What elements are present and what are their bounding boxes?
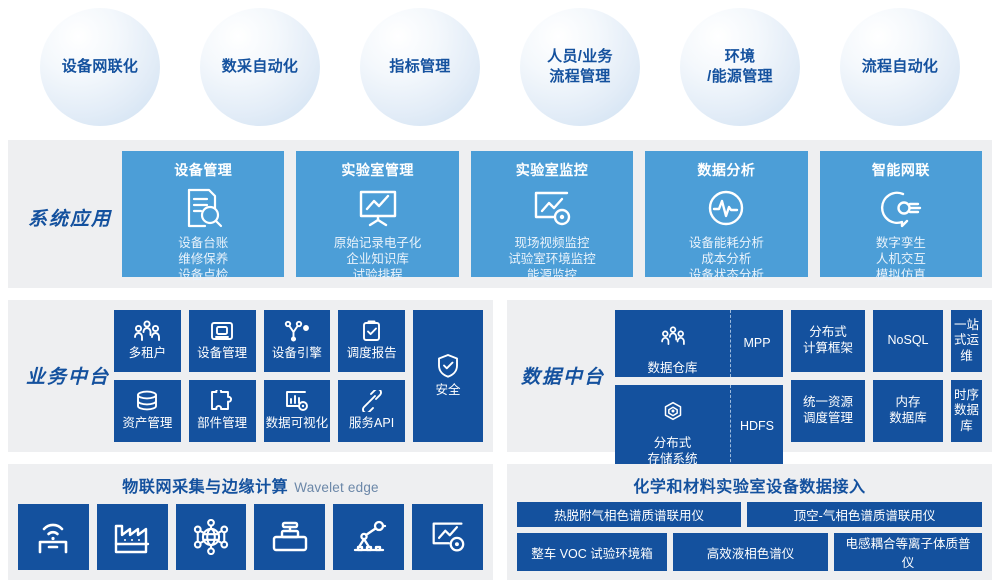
app-card-title: 数据分析 — [697, 160, 755, 180]
tile-asset-management[interactable]: 资产管理 — [114, 380, 181, 442]
tile-label: 分布式 计算框架 — [803, 325, 853, 356]
tile-nosql[interactable]: NoSQL — [873, 310, 943, 372]
app-card-title: 实验室监控 — [516, 160, 589, 180]
app-card-title: 设备管理 — [174, 160, 232, 180]
tile-column: 设备引擎 数据可视化 — [264, 310, 331, 442]
tile-label: 统一资源 调度管理 — [803, 395, 853, 426]
document-search-icon — [183, 187, 223, 229]
iot-edge-section: 物联网采集与边缘计算Wavelet edge — [8, 464, 493, 580]
tile-label: 多租户 — [129, 346, 167, 362]
iot-edge-title: 物联网采集与边缘计算 — [122, 479, 288, 496]
tile-distributed-computing[interactable]: 分布式 计算框架 — [791, 310, 865, 372]
tile-label: 服务API — [349, 416, 394, 432]
lab-chip-voc-chamber[interactable]: 整车 VOC 试验环境箱 — [517, 533, 667, 571]
lab-chip-label: 电感耦合等离子体质普仪 — [840, 533, 976, 571]
storage-cube-icon — [662, 385, 684, 436]
app-card-title: 实验室管理 — [341, 160, 414, 180]
app-card-device-management[interactable]: 设备管理 设备台账 维修保养 设备点检 — [122, 151, 284, 277]
database-asset-icon — [134, 390, 160, 412]
data-platform-title: 数据中台 — [521, 362, 605, 389]
tile-distributed-storage[interactable]: 分布式 存储系统 — [615, 385, 731, 468]
lab-chip-icpms[interactable]: 电感耦合等离子体质普仪 — [834, 533, 982, 571]
iot-icon-row — [18, 504, 483, 570]
iot-tile-monitor[interactable] — [412, 504, 483, 570]
app-card-smart-connected[interactable]: 智能网联 数字孪生 人机交互 模拟仿真 — [820, 151, 982, 277]
capability-label: 指标管理 — [389, 57, 450, 77]
tile-column: 一站式运维 时序数据库 — [951, 310, 982, 442]
tile-multi-tenant[interactable]: 多租户 — [114, 310, 181, 372]
industrial-camera-icon — [271, 521, 309, 553]
lab-instrument-row: 整车 VOC 试验环境箱 高效液相色谱仪 电感耦合等离子体质普仪 — [517, 533, 982, 571]
tile-label: 设备引擎 — [272, 346, 322, 362]
tile-label: 分布式 存储系统 — [647, 436, 697, 467]
factory-icon — [113, 520, 151, 554]
iot-edge-subtitle: Wavelet edge — [294, 480, 378, 495]
monitor-chart-icon — [531, 187, 573, 229]
node-engine-icon — [284, 320, 310, 342]
pulse-circle-icon — [705, 187, 747, 229]
tile-security[interactable]: 安全 — [413, 310, 483, 442]
capability-label: 数采自动化 — [222, 57, 299, 77]
tile-label: MPP — [743, 336, 770, 350]
tile-service-api[interactable]: 服务API — [338, 380, 405, 442]
presentation-chart-icon — [357, 187, 399, 229]
api-plug-icon — [359, 390, 385, 412]
lab-chip-headspace-gcms[interactable]: 顶空-气相色谱质谱联用仪 — [747, 502, 982, 527]
system-application-cards: 设备管理 设备台账 维修保养 设备点检 实验室管理 — [122, 151, 982, 277]
tile-data-visualization[interactable]: 数据可视化 — [264, 380, 331, 442]
tile-label: 时序数据库 — [953, 388, 980, 435]
tile-label: 安全 — [435, 383, 460, 399]
tile-label: HDFS — [740, 419, 774, 433]
tile-device-management[interactable]: 设备管理 — [189, 310, 256, 372]
lab-chip-label: 热脱附气相色谱质谱联用仪 — [554, 505, 704, 524]
tile-schedule-report[interactable]: 调度报告 — [338, 310, 405, 372]
lab-data-access-header: 化学和材料实验室设备数据接入 — [507, 464, 992, 497]
tile-label: 资产管理 — [122, 416, 172, 432]
tile-one-stop-ops[interactable]: 一站式运维 — [951, 310, 982, 372]
capability-label: 流程自动化 — [862, 57, 939, 77]
multi-tenant-icon — [134, 320, 160, 342]
device-box-icon — [209, 320, 235, 342]
data-platform-section: 数据中台 数据仓库 MPP — [507, 300, 992, 452]
app-card-desc: 现场视频监控 试验室环境监控 能源监控 — [508, 235, 596, 283]
app-card-title: 智能网联 — [872, 160, 930, 180]
capability-bubble[interactable]: 环境 /能源管理 — [680, 8, 800, 126]
puzzle-icon — [209, 390, 235, 412]
tile-label: 调度报告 — [347, 346, 397, 362]
capability-bubble[interactable]: 数采自动化 — [200, 8, 320, 126]
monitor-chart-icon — [429, 520, 467, 554]
robot-arm-icon — [351, 520, 387, 554]
tile-label: 部件管理 — [197, 416, 247, 432]
iot-edge-header: 物联网采集与边缘计算Wavelet edge — [8, 464, 493, 497]
tile-in-memory-database[interactable]: 内存 数据库 — [873, 380, 943, 442]
tile-column: 多租户 资产管理 — [114, 310, 181, 442]
lab-instrument-rows: 热脱附气相色谱质谱联用仪 顶空-气相色谱质谱联用仪 整车 VOC 试验环境箱 高… — [517, 502, 982, 571]
capability-bubble[interactable]: 人员/业务 流程管理 — [520, 8, 640, 126]
lab-instrument-row: 热脱附气相色谱质谱联用仪 顶空-气相色谱质谱联用仪 — [517, 502, 982, 527]
app-card-lab-monitoring[interactable]: 实验室监控 现场视频监控 试验室环境监控 能源监控 — [471, 151, 633, 277]
capability-bubble-row: 设备网联化 数采自动化 指标管理 人员/业务 流程管理 环境 /能源管理 流程自… — [0, 0, 1000, 134]
app-card-desc: 设备能耗分析 成本分析 设备状态分析 — [689, 235, 764, 283]
tile-label: 数据可视化 — [266, 416, 329, 432]
tile-data-warehouse[interactable]: 数据仓库 — [615, 310, 731, 377]
tile-data-warehouse-mpp[interactable]: 数据仓库 MPP — [615, 310, 783, 377]
lab-chip-label: 高效液相色谱仪 — [707, 543, 795, 562]
iot-tile-gateway[interactable] — [18, 504, 89, 570]
lab-chip-td-gcms[interactable]: 热脱附气相色谱质谱联用仪 — [517, 502, 741, 527]
app-card-data-analysis[interactable]: 数据分析 设备能耗分析 成本分析 设备状态分析 — [645, 151, 807, 277]
tile-label: NoSQL — [888, 333, 929, 349]
ai-head-icon — [880, 187, 922, 229]
tile-device-engine[interactable]: 设备引擎 — [264, 310, 331, 372]
data-platform-tiles: 数据仓库 MPP — [615, 310, 982, 442]
lab-chip-label: 顶空-气相色谱质谱联用仪 — [794, 505, 936, 524]
tile-column: 调度报告 服务API — [338, 310, 405, 442]
tile-column: NoSQL 内存 数据库 — [873, 310, 943, 442]
shield-check-icon — [436, 353, 460, 379]
tile-label: 一站式运维 — [953, 318, 980, 365]
business-platform-title: 业务中台 — [26, 362, 110, 389]
lab-data-access-section: 化学和材料实验室设备数据接入 热脱附气相色谱质谱联用仪 顶空-气相色谱质谱联用仪… — [507, 464, 992, 580]
system-application-title: 系统应用 — [28, 204, 112, 231]
warehouse-people-icon — [660, 310, 686, 361]
business-platform-section: 业务中台 多租户 — [8, 300, 493, 452]
capability-label: 人员/业务 流程管理 — [547, 47, 613, 87]
tile-unified-resource-scheduling[interactable]: 统一资源 调度管理 — [791, 380, 865, 442]
app-card-desc: 数字孪生 人机交互 模拟仿真 — [876, 235, 926, 283]
iot-tile-camera[interactable] — [254, 504, 325, 570]
capability-bubble[interactable]: 指标管理 — [360, 8, 480, 126]
iot-tile-network[interactable] — [176, 504, 247, 570]
system-application-section: 系统应用 设备管理 设备台账 维修保养 设备点检 实验室管理 — [8, 140, 992, 288]
tile-mpp[interactable]: MPP — [731, 310, 783, 377]
tile-label: 设备管理 — [197, 346, 247, 362]
app-card-desc: 原始记录电子化 企业知识库 试验排程 — [334, 235, 422, 283]
capability-label: 设备网联化 — [62, 57, 139, 77]
capability-bubble[interactable]: 设备网联化 — [40, 8, 160, 126]
lab-chip-label: 整车 VOC 试验环境箱 — [531, 543, 653, 562]
tile-column: 设备管理 部件管理 — [189, 310, 256, 442]
tile-hdfs[interactable]: HDFS — [731, 385, 783, 468]
tile-component-management[interactable]: 部件管理 — [189, 380, 256, 442]
tile-column: 分布式 计算框架 统一资源 调度管理 — [791, 310, 865, 442]
tile-column: 数据仓库 MPP — [615, 310, 783, 442]
tile-label: 数据仓库 — [647, 361, 697, 377]
tile-label: 内存 数据库 — [889, 395, 927, 426]
architecture-diagram: 设备网联化 数采自动化 指标管理 人员/业务 流程管理 环境 /能源管理 流程自… — [0, 0, 1000, 588]
iot-tile-robot-arm[interactable] — [333, 504, 404, 570]
network-globe-icon — [192, 519, 230, 555]
capability-label: 环境 /能源管理 — [707, 47, 773, 87]
capability-bubble[interactable]: 流程自动化 — [840, 8, 960, 126]
tile-time-series-database[interactable]: 时序数据库 — [951, 380, 982, 442]
clipboard-check-icon — [359, 320, 385, 342]
lab-data-access-title: 化学和材料实验室设备数据接入 — [633, 479, 865, 496]
iot-tile-factory[interactable] — [97, 504, 168, 570]
tile-column-security: 安全 — [413, 310, 483, 442]
business-platform-tiles: 多租户 资产管理 — [114, 310, 483, 442]
tile-distributed-storage-hdfs[interactable]: 分布式 存储系统 HDFS — [615, 385, 783, 468]
app-card-lab-management[interactable]: 实验室管理 原始记录电子化 企业知识库 试验排程 — [296, 151, 458, 277]
lab-chip-hplc[interactable]: 高效液相色谱仪 — [673, 533, 828, 571]
wifi-gateway-icon — [35, 520, 71, 554]
chart-visual-icon — [284, 390, 310, 412]
app-card-desc: 设备台账 维修保养 设备点检 — [178, 235, 228, 283]
